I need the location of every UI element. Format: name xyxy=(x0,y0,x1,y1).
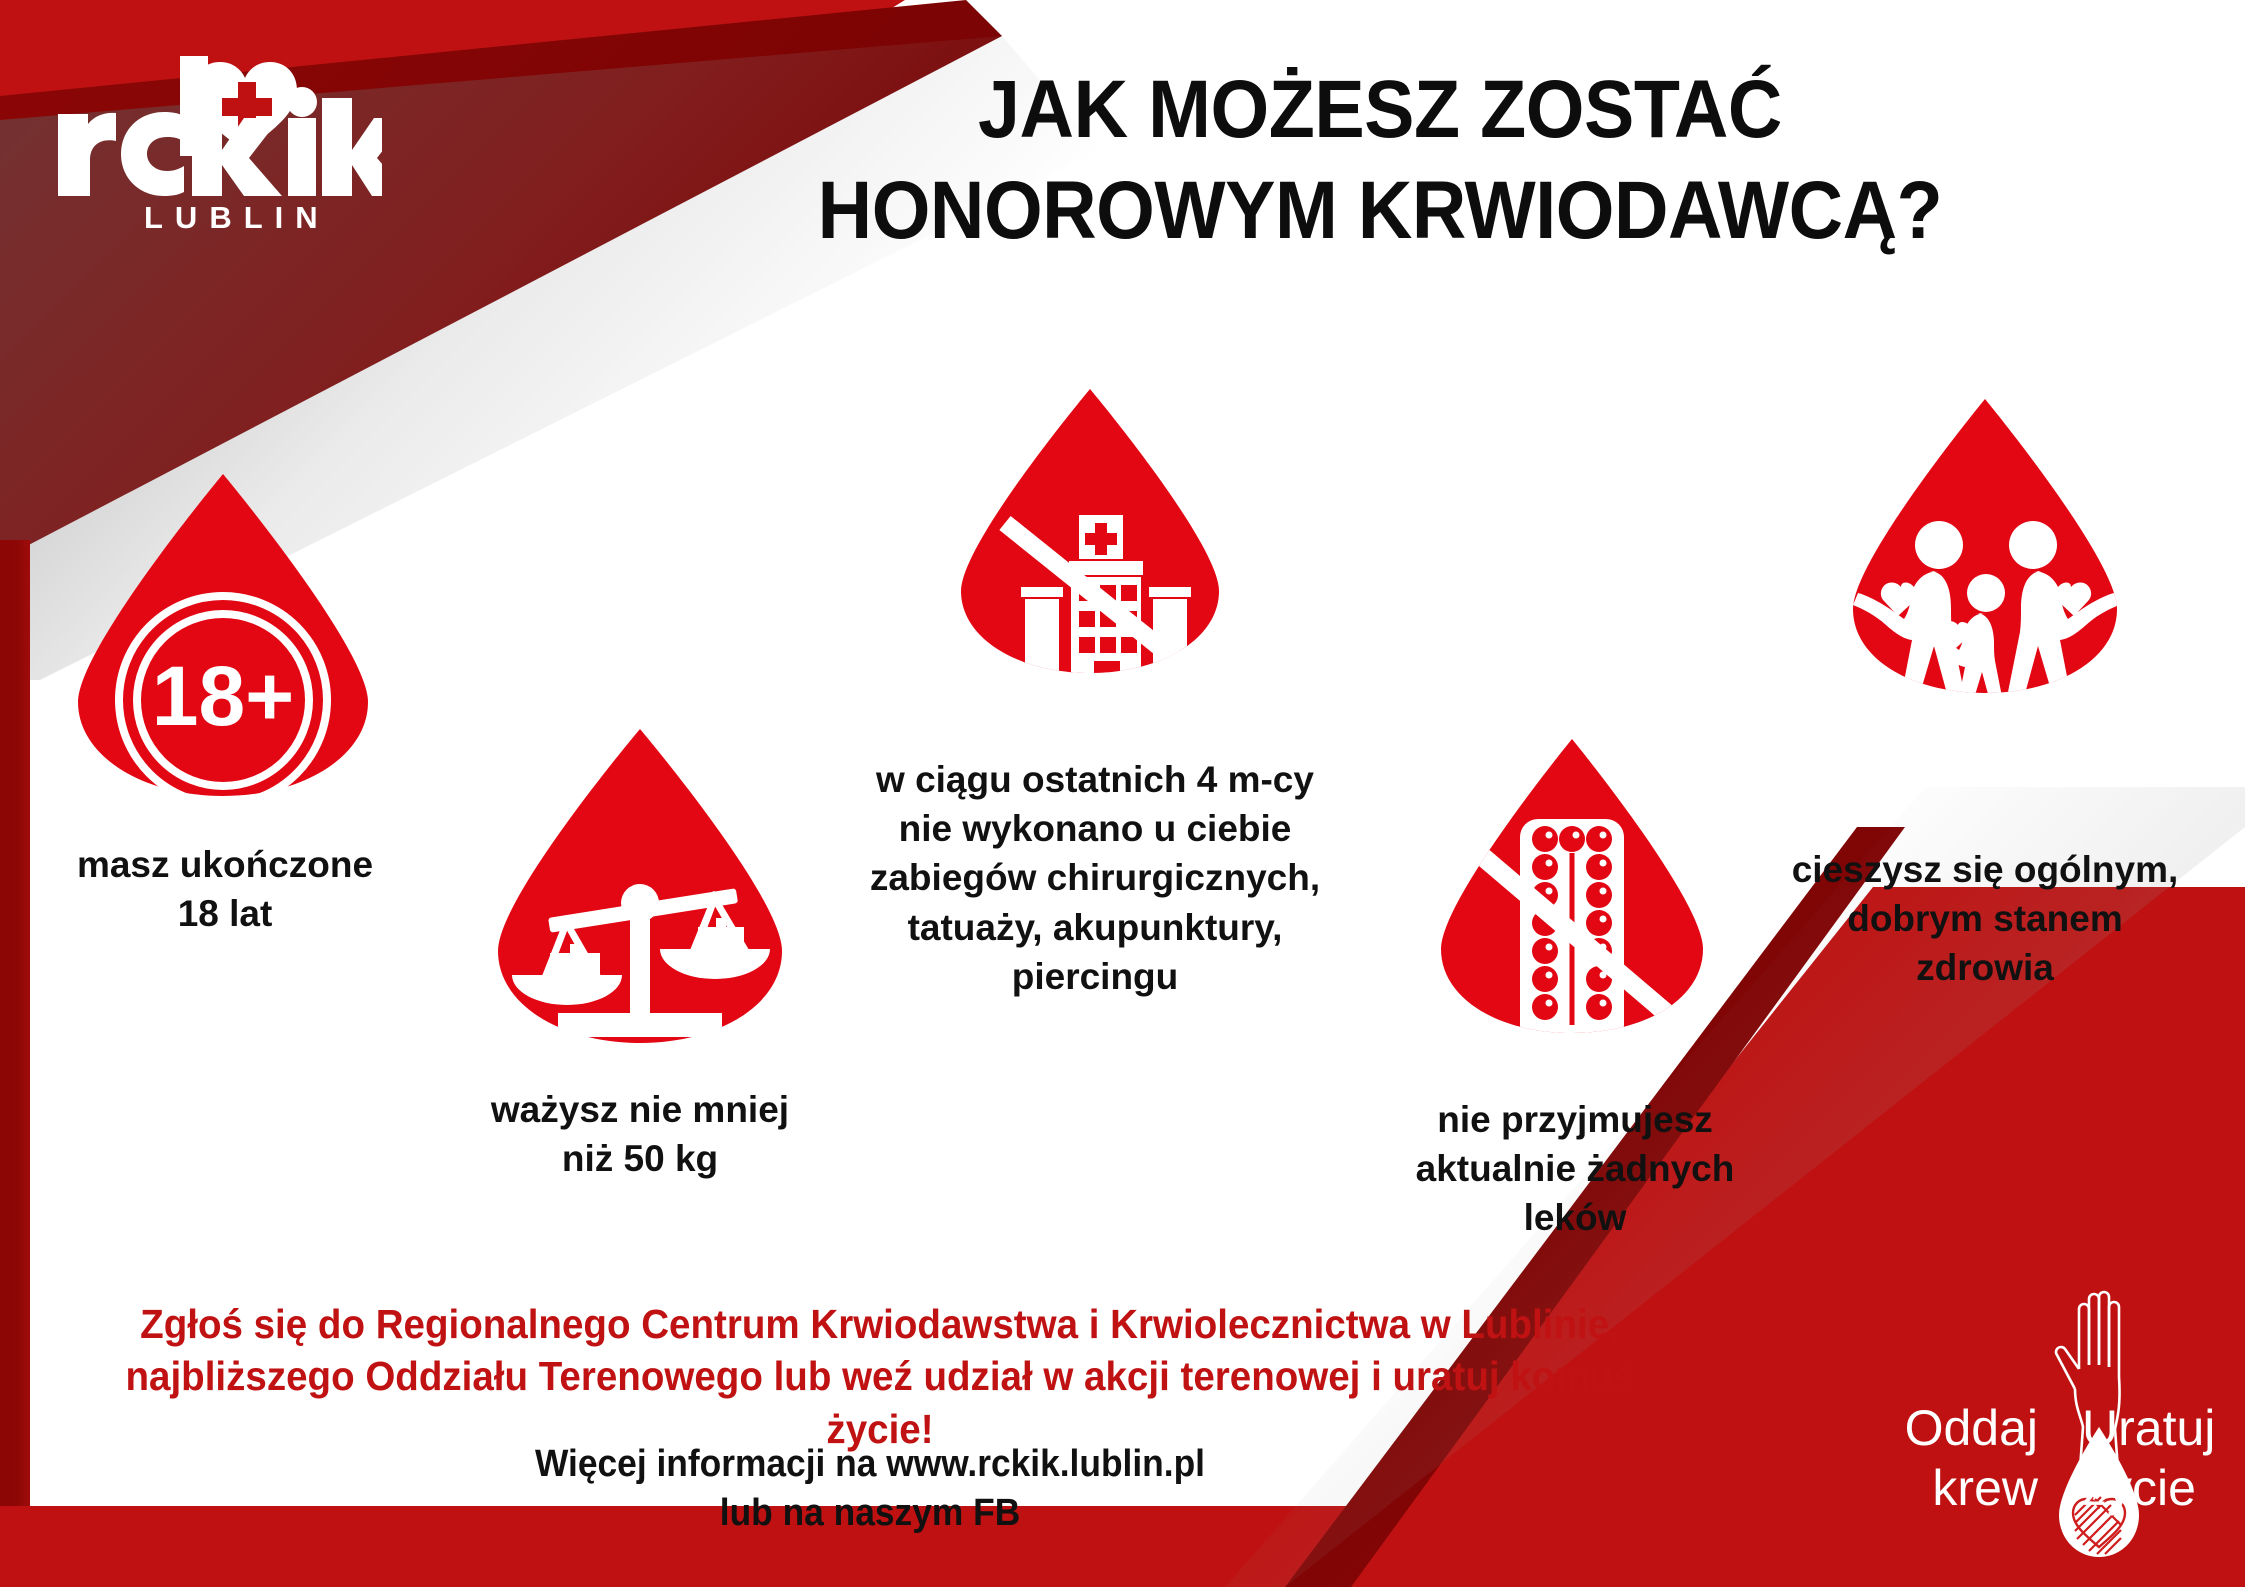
blood-drop-18-plus-icon: 18+ xyxy=(68,470,378,800)
rckik-logo[interactable]: LUBLIN xyxy=(52,48,382,208)
blood-drop-family-icon xyxy=(1845,395,2125,695)
more-info: Więcej informacji na www.rckik.lublin.pl… xyxy=(89,1440,1651,1539)
caption-health: cieszysz się ogólnym, dobrym stanem zdro… xyxy=(1735,845,2235,993)
caption-surgery: w ciągu ostatnich 4 m-cy nie wykonano u … xyxy=(810,755,1380,1001)
caption-health-line2: dobrym stanem xyxy=(1735,894,2235,943)
caption-meds-line3: leków xyxy=(1340,1193,1810,1242)
caption-age-line1: masz ukończone xyxy=(10,840,440,889)
logo-subtitle: LUBLIN xyxy=(144,200,330,236)
caption-surgery-line5: piercingu xyxy=(810,952,1380,1001)
caption-surgery-line4: tatuaży, akupunktury, xyxy=(810,903,1380,952)
age-badge-text: 18+ xyxy=(152,649,295,743)
caption-surgery-line3: zabiegów chirurgicznych, xyxy=(810,853,1380,902)
caption-meds-line1: nie przyjmujesz xyxy=(1340,1095,1810,1144)
call-to-action: Zgłoś się do Regionalnego Centrum Krwiod… xyxy=(81,1298,1679,1455)
caption-health-line3: zdrowia xyxy=(1735,943,2235,992)
caption-weight: ważysz nie mniej niż 50 kg xyxy=(400,1085,880,1183)
left-red-stripe xyxy=(0,540,30,1507)
page-title: JAK MOŻESZ ZOSTAĆ HONOROWYM KRWIODAWCĄ? xyxy=(699,60,2061,262)
page-title-line2: HONOROWYM KRWIODAWCĄ? xyxy=(699,161,2061,262)
page-title-line1: JAK MOŻESZ ZOSTAĆ xyxy=(978,64,1782,155)
oddaj-krew-uratuj-zycie-logo[interactable]: Oddaj krew Uratuj życie xyxy=(1870,1285,2230,1575)
caption-weight-line2: niż 50 kg xyxy=(400,1134,880,1183)
caption-surgery-line1: w ciągu ostatnich 4 m-cy xyxy=(810,755,1380,804)
blood-drop-pill-blister-prohibited-icon xyxy=(1435,735,1710,1035)
more-info-line1: Więcej informacji na www.rckik.lublin.pl xyxy=(89,1440,1651,1489)
more-info-line2: lub na naszym FB xyxy=(89,1489,1651,1538)
poster-root: LUBLIN JAK MOŻESZ ZOSTAĆ HONOROWYM KRWIO… xyxy=(0,0,2245,1587)
caption-meds: nie przyjmujesz aktualnie żadnych leków xyxy=(1340,1095,1810,1243)
slogan-word-krew: krew xyxy=(1870,1463,2038,1513)
cta-line1: Zgłoś się do Regionalnego Centrum Krwiod… xyxy=(81,1298,1679,1350)
caption-surgery-line2: nie wykonano u ciebie xyxy=(810,804,1380,853)
caption-age: masz ukończone 18 lat xyxy=(10,840,440,938)
caption-health-line1: cieszysz się ogólnym, xyxy=(1735,845,2235,894)
blood-drop-balance-scales-icon xyxy=(490,725,790,1045)
caption-age-line2: 18 lat xyxy=(10,889,440,938)
slogan-word-uratuj: Uratuj xyxy=(2082,1403,2242,1453)
caption-meds-line2: aktualnie żadnych xyxy=(1340,1144,1810,1193)
blood-drop-hospital-prohibited-icon xyxy=(955,385,1225,675)
slogan-word-zycie: życie xyxy=(2082,1463,2242,1513)
caption-weight-line1: ważysz nie mniej xyxy=(400,1085,880,1134)
slogan-word-oddaj: Oddaj xyxy=(1870,1403,2038,1453)
